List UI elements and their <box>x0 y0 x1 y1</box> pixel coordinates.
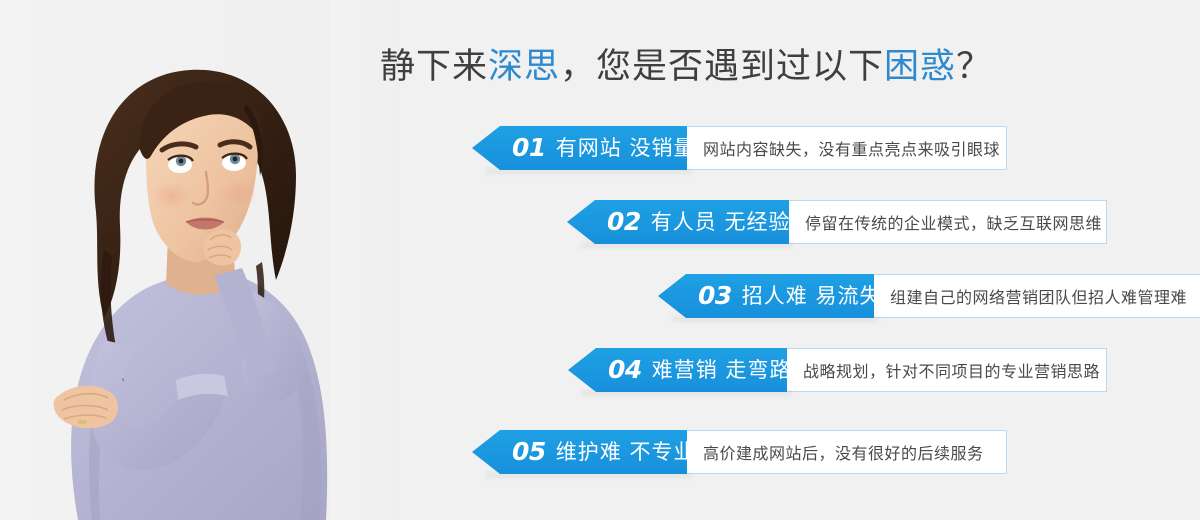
pain-point-row[interactable]: 05维护难 不专业高价建成网站后，没有很好的后续服务 <box>472 430 1007 474</box>
pain-point-number: 05 <box>512 439 546 464</box>
pain-point-number: 03 <box>698 283 732 308</box>
promo-banner-stage: 静下来深思，您是否遇到过以下困惑？ 01有网站 没销量网站内容缺失，没有重点亮点… <box>0 0 1200 520</box>
headline-part-1: 静下来 <box>380 47 488 87</box>
pain-point-banner[interactable]: 04难营销 走弯路 <box>568 348 787 392</box>
pain-point-number: 01 <box>512 135 546 160</box>
pain-point-description: 网站内容缺失，没有重点亮点来吸引眼球 <box>687 126 1007 170</box>
thoughtful-woman-photo <box>0 0 400 520</box>
pain-point-banner[interactable]: 03招人难 易流失 <box>658 274 874 318</box>
pain-point-description: 停留在传统的企业模式，缺乏互联网思维 <box>789 200 1107 244</box>
pain-point-banner[interactable]: 05维护难 不专业 <box>472 430 687 474</box>
pain-point-title: 难营销 走弯路 <box>652 360 792 381</box>
pain-point-row[interactable]: 04难营销 走弯路战略规划，针对不同项目的专业营销思路 <box>568 348 1107 392</box>
pain-point-title: 维护难 不专业 <box>556 442 696 463</box>
pain-point-title: 有人员 无经验 <box>651 212 791 233</box>
pain-point-description: 组建自己的网络营销团队但招人难管理难 <box>874 274 1200 318</box>
headline-highlight-2: 困惑 <box>884 47 956 87</box>
pain-point-description: 战略规划，针对不同项目的专业营销思路 <box>787 348 1107 392</box>
pain-point-row[interactable]: 01有网站 没销量网站内容缺失，没有重点亮点来吸引眼球 <box>472 126 1007 170</box>
pain-point-banner[interactable]: 01有网站 没销量 <box>472 126 687 170</box>
pain-point-number: 04 <box>608 357 642 382</box>
headline-part-2: ，您是否遇到过以下 <box>560 47 884 87</box>
pain-point-row[interactable]: 02有人员 无经验停留在传统的企业模式，缺乏互联网思维 <box>567 200 1107 244</box>
pain-point-description: 高价建成网站后，没有很好的后续服务 <box>687 430 1007 474</box>
pain-point-banner[interactable]: 02有人员 无经验 <box>567 200 789 244</box>
headline-highlight-1: 深思 <box>488 47 560 87</box>
pain-point-title: 有网站 没销量 <box>556 138 696 159</box>
pain-point-row[interactable]: 03招人难 易流失组建自己的网络营销团队但招人难管理难 <box>658 274 1200 318</box>
pain-point-title: 招人难 易流失 <box>742 286 882 307</box>
pain-point-number: 02 <box>607 209 641 234</box>
headline-part-3: ？ <box>956 47 992 87</box>
page-title: 静下来深思，您是否遇到过以下困惑？ <box>380 40 1080 94</box>
